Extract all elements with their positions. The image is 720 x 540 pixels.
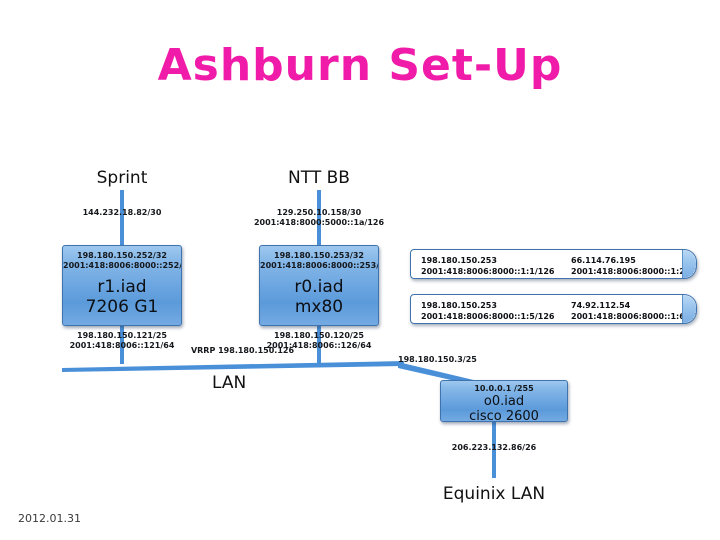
tunnel-2-local-v4: 198.180.150.253 — [421, 300, 554, 311]
tunnel-2-remote-v4: 74.92.112.54 — [571, 300, 697, 311]
lan-bus-bar — [62, 361, 404, 372]
peer-label-sprint: Sprint — [62, 168, 182, 188]
device-r0-name: r0.iad — [260, 277, 378, 297]
device-r0-addr-v4: 198.180.150.253/32 — [260, 251, 378, 261]
tunnel-1-local: 198.180.150.253 2001:418:8006:8000::1:1/… — [421, 255, 554, 277]
peer-label-equinix: Equinix LAN — [394, 484, 594, 504]
device-r1-name: r1.iad — [63, 277, 181, 297]
peer-label-ntt: NTT BB — [259, 168, 379, 188]
tunnel-1-remote: 66.114.76.195 2001:418:8006:8000::1:2/12… — [571, 255, 697, 277]
uplink-addr-ntt-v4: 129.250.10.158/30 — [249, 208, 389, 218]
device-r0-model: mx80 — [260, 297, 378, 317]
device-r1-lan-addr-v6: 2001:418:8006::121/64 — [52, 341, 192, 351]
tunnel-1-remote-v6: 2001:418:8006:8000::1:2/126 — [571, 266, 697, 277]
page-title: Ashburn Set-Up — [0, 40, 720, 91]
tunnel-2-local-v6: 2001:418:8006:8000::1:5/126 — [421, 311, 554, 322]
uplink-addr-sprint-v4: 144.232.18.82/30 — [52, 208, 192, 218]
tunnel-box-1[interactable]: 198.180.150.253 2001:418:8006:8000::1:1/… — [410, 249, 697, 279]
device-r1-model: 7206 G1 — [63, 297, 181, 317]
uplink-addr-sprint: 144.232.18.82/30 — [52, 208, 192, 218]
device-r1-iad[interactable]: 198.180.150.252/32 2001:418:8006:8000::2… — [62, 245, 182, 326]
device-o0-name: o0.iad — [441, 394, 567, 409]
device-r1-addr-v4: 198.180.150.252/32 — [63, 251, 181, 261]
tunnel-2-remote: 74.92.112.54 2001:418:8006:8000::1:6/126 — [571, 300, 697, 322]
tunnel-1-local-v4: 198.180.150.253 — [421, 255, 554, 266]
device-r0-addr-v6: 2001:418:8006:8000::253/128 — [260, 261, 378, 271]
tunnel-box-2[interactable]: 198.180.150.253 2001:418:8006:8000::1:5/… — [410, 294, 697, 324]
device-r0-iad[interactable]: 198.180.150.253/32 2001:418:8006:8000::2… — [259, 245, 379, 326]
o0-equinix-link-addr: 206.223.132.86/26 — [434, 443, 554, 453]
tunnel-2-remote-v6: 2001:418:8006:8000::1:6/126 — [571, 311, 697, 322]
uplink-addr-ntt-v6: 2001:418:8000:5000::1a/126 — [249, 218, 389, 228]
device-r1-addr-v6: 2001:418:8006:8000::252/128 — [63, 261, 181, 271]
device-r1-lan-addr: 198.180.150.121/25 2001:418:8006::121/64 — [52, 331, 192, 351]
uplink-addr-ntt: 129.250.10.158/30 2001:418:8000:5000::1a… — [249, 208, 389, 228]
tunnel-2-local: 198.180.150.253 2001:418:8006:8000::1:5/… — [421, 300, 554, 322]
device-o0-model: cisco 2600 — [441, 409, 567, 422]
lan-bus-label: LAN — [212, 373, 246, 393]
device-o0-addr: 10.0.0.1 /255 — [441, 384, 567, 394]
o0-lan-link-addr: 198.180.150.3/25 — [398, 355, 508, 365]
date-stamp: 2012.01.31 — [18, 512, 81, 525]
vrrp-label: VRRP 198.180.150.126 — [180, 346, 305, 356]
device-o0-iad[interactable]: 10.0.0.1 /255 o0.iad cisco 2600 — [440, 380, 568, 422]
tunnel-1-local-v6: 2001:418:8006:8000::1:1/126 — [421, 266, 554, 277]
device-r0-lan-addr-v4: 198.180.150.120/25 — [249, 331, 389, 341]
tunnel-1-remote-v4: 66.114.76.195 — [571, 255, 697, 266]
device-r1-lan-addr-v4: 198.180.150.121/25 — [52, 331, 192, 341]
slide-canvas: Ashburn Set-Up Sprint NTT BB Equinix LAN… — [0, 0, 720, 540]
